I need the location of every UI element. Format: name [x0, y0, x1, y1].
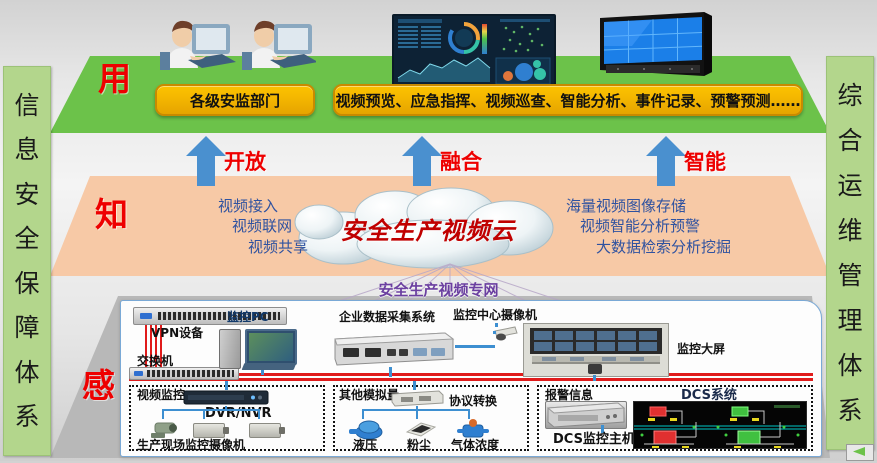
- wire-camera-left: [493, 331, 496, 334]
- label-group-alarm: 报警信息: [545, 389, 593, 401]
- label-site-cameras: 生产现场监控摄像机: [137, 439, 245, 451]
- dcs-host-icon: [545, 401, 627, 429]
- ptz-camera-icon: [149, 419, 179, 439]
- pillar-right-char-0: 综: [837, 83, 862, 108]
- pillar-right-char-4: 管: [837, 263, 862, 288]
- pillar-left-char-3: 全: [14, 226, 39, 251]
- dvr-nvr-icon: [183, 390, 269, 406]
- label-data-collection: 企业数据采集系统: [339, 311, 435, 323]
- cloud-right-capabilities: 海量视频图像存储 视频智能分析预警 大数据检索分析挖掘: [566, 196, 796, 257]
- label-center-camera: 监控中心摄像机: [453, 309, 537, 321]
- layer-glyph-use: 用: [98, 62, 131, 95]
- pillar-left-char-6: 体: [14, 360, 39, 385]
- up-arrow-open-icon: [184, 136, 228, 186]
- dcs-scada-screenshot: [633, 401, 807, 449]
- label-big-screen: 监控大屏: [677, 343, 725, 355]
- pillar-right-char-6: 体: [837, 353, 862, 378]
- pillar-left-char-0: 信: [14, 93, 39, 118]
- cloud-title: 安全生产视频云: [283, 186, 573, 270]
- capability-video-share: 视频共享: [130, 237, 308, 257]
- private-network-label: 安全生产视频专网: [0, 279, 877, 300]
- label-sensor-hydraulic: 液压: [353, 439, 377, 451]
- layer-glyph-know: 知: [95, 198, 128, 231]
- dust-sensor-icon: [403, 420, 437, 438]
- arrow-label-smart: 智能: [684, 152, 726, 173]
- pc-monitor-icon: [245, 329, 297, 365]
- label-group-video: 视频监控: [137, 389, 185, 401]
- pc-tower-icon: [219, 329, 241, 369]
- pillar-right-char-1: 合: [837, 128, 862, 153]
- protocol-converter-icon: [389, 389, 445, 407]
- pillar-left-char-1: 息: [14, 137, 39, 162]
- control-room-photo: [523, 323, 669, 377]
- capability-video-network: 视频联网: [130, 216, 292, 236]
- cloud-left-capabilities: 视频接入 视频联网 视频共享: [130, 196, 278, 257]
- arrow-label-open: 开放: [224, 152, 266, 173]
- wire-monitor-pc: [261, 370, 264, 375]
- pillar-right-char-7: 系: [837, 398, 862, 423]
- label-vpn-device: VPN设备: [151, 327, 203, 339]
- label-sensor-dust: 粉尘: [407, 439, 431, 451]
- layer-glyph-sense: 感: [82, 369, 115, 402]
- label-monitor-pc: 监控PC: [227, 311, 269, 323]
- pillar-right-char-2: 运: [837, 173, 862, 198]
- cloud-shape: 安全生产视频云: [283, 186, 573, 270]
- pillar-left-char-5: 障: [14, 315, 39, 340]
- pillar-operations-management: 综 合 运 维 管 理 体 系: [826, 56, 874, 450]
- pillar-information-security: 信 息 安 全 保 障 体 系: [3, 66, 51, 456]
- pillar-right-char-5: 理: [837, 308, 862, 333]
- dome-camera-icon: [493, 325, 519, 341]
- video-wall-illustration: [592, 10, 720, 82]
- wire-data-collection-down: [389, 367, 392, 377]
- capability-video-access: 视频接入: [130, 196, 278, 216]
- operators-at-computers-illustration: [152, 12, 316, 74]
- pillar-left-char-4: 保: [14, 271, 39, 296]
- wire-data-collection-right: [455, 345, 495, 348]
- wire-camera-down: [495, 323, 498, 327]
- gas-sensor-icon: [457, 418, 489, 440]
- label-sensor-gas: 气体浓度: [451, 439, 499, 451]
- sense-layer-panel: VPN设备 交换机 监控PC 企业数据采集系统: [120, 300, 822, 457]
- capability-big-data: 大数据检索分析挖掘: [596, 237, 796, 257]
- wire-big-screen: [593, 375, 596, 381]
- wire-dvr-up: [225, 381, 228, 390]
- bi-dashboard-illustration: [392, 14, 556, 90]
- box-safety-departments[interactable]: 各级安监部门: [155, 84, 315, 116]
- capability-mass-storage: 海量视频图像存储: [566, 196, 796, 216]
- pillar-left-char-7: 系: [14, 404, 39, 429]
- data-collection-box-icon: [327, 329, 455, 367]
- wires-video-group: [141, 406, 271, 420]
- up-arrow-smart-icon: [644, 136, 688, 186]
- architecture-diagram: 用 知 感 各级安监部门 视频预览、应急指挥、视频巡查、智能分析、事件记录、预警…: [0, 0, 877, 461]
- arrow-label-fuse: 融合: [440, 152, 482, 173]
- label-dcs-host: DCS监控主机: [553, 433, 635, 446]
- scroll-arrow-icon[interactable]: [846, 444, 874, 461]
- pillar-left-char-2: 安: [14, 182, 39, 207]
- box-platform-functions[interactable]: 视频预览、应急指挥、视频巡查、智能分析、事件记录、预警预测……: [333, 84, 803, 116]
- box-camera-2-icon: [249, 423, 281, 438]
- label-switch: 交换机: [137, 355, 173, 367]
- box-camera-1-icon: [193, 423, 225, 438]
- up-arrow-fuse-icon: [400, 136, 444, 186]
- pillar-right-char-3: 维: [837, 218, 862, 243]
- pc-keyboard-icon: [242, 363, 297, 370]
- hydraulic-sensor-icon: [349, 418, 383, 440]
- capability-smart-analysis: 视频智能分析预警: [580, 216, 796, 236]
